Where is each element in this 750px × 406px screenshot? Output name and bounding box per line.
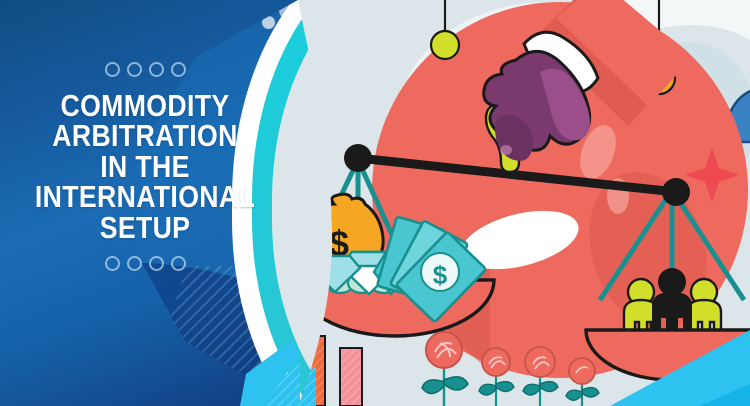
scale-pivot-left	[344, 144, 372, 172]
glove-shine	[500, 145, 512, 155]
banknote-dollar-symbol: $	[433, 260, 448, 290]
illustration-scene: $ $	[0, 0, 750, 406]
pendant-lime-icon	[431, 31, 459, 59]
chart-bar-pink	[340, 348, 362, 406]
scale-pivot-right	[662, 178, 690, 206]
banner-container: COMMODITY ARBITRATION IN THE INTERNATION…	[0, 0, 750, 406]
